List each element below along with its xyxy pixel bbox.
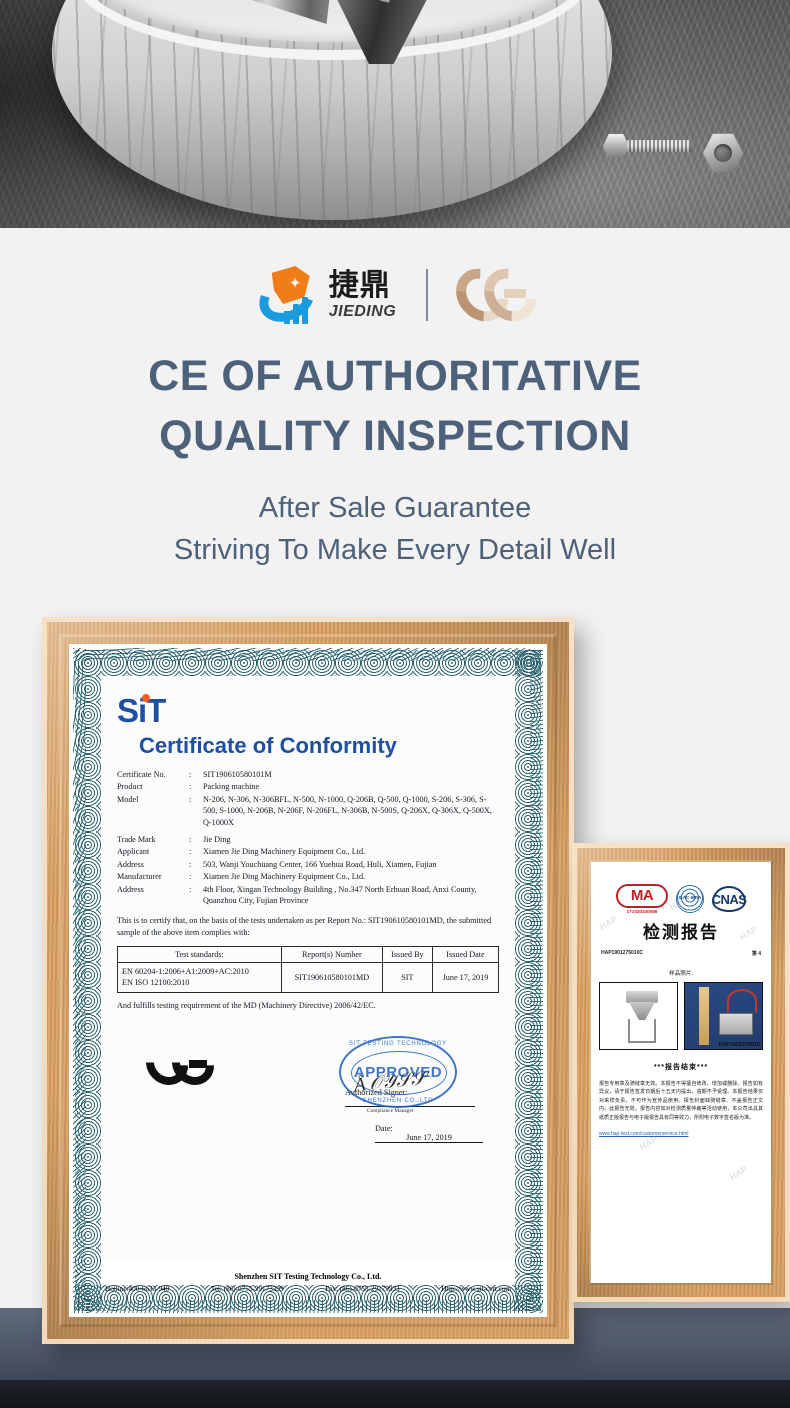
hex-nut-hole (714, 144, 732, 162)
report-meta-row: HAP1901275010C 第 4 (599, 950, 763, 957)
field-label: Certificate No. (117, 769, 189, 781)
report-disclaimer: 报告专用章及骑缝章无效。本报告不得擅自修改、增加或删除。报告如有异议，请于报告签… (599, 1080, 763, 1122)
field-colon: : (189, 859, 203, 871)
field-label: Address (117, 884, 189, 908)
guilloche-top (75, 650, 541, 676)
certificate-title: Certificate of Conformity (139, 733, 499, 759)
field-value: 4th Floor, Xingan Technology Building , … (203, 884, 499, 908)
report-end-marker: ***报告结束*** (599, 1062, 763, 1072)
page-subtitle-line2: Striving To Make Every Detail Well (0, 529, 790, 571)
watermark: HAP (728, 1164, 749, 1183)
cell-issued-date: June 17, 2019 (432, 962, 498, 992)
field-label: Manufacturer (117, 871, 189, 883)
certificate-footer: Shenzhen SIT Testing Technology Co., Ltd… (103, 1272, 513, 1293)
table-header-row: Test standards: Report(s) Number Issued … (118, 946, 499, 962)
footer-url[interactable]: Http://www.sit-cert.com (441, 1285, 511, 1293)
logo-bars-icon (284, 297, 308, 324)
cell-report-number: SIT190610580101MD (281, 962, 382, 992)
machine-hopper (626, 991, 658, 1003)
sample-photo-machine (599, 982, 678, 1050)
cma-logo-block: MA 171020340088 (616, 884, 668, 914)
field-label: Address (117, 859, 189, 871)
machinery-directive-statement: And fulfills testing requirement of the … (117, 1001, 499, 1010)
signature-subtitle: Compliance Manager (367, 1108, 414, 1114)
field-colon: : (189, 884, 203, 908)
report-title: 检测报告 (599, 918, 763, 943)
cell-issued-by: SIT (382, 962, 432, 992)
test-report-paper: HAP HAP HAP HAP HAP HAP HAP MA 171020340… (591, 862, 771, 1283)
field-value: Xiamen Jie Ding Machinery Equipment Co.,… (203, 846, 499, 858)
bolt-thread (627, 140, 691, 152)
column-header-standards: Test standards: (118, 946, 282, 962)
report-service-link[interactable]: www.hap-test.com/customerservice.html (599, 1131, 688, 1137)
cma-logo-number: 171020340088 (616, 909, 668, 914)
field-colon: : (189, 834, 203, 846)
table-row: Manufacturer : Xiamen Jie Ding Machinery… (117, 871, 499, 883)
sit-logo-dot-icon (142, 694, 150, 702)
field-value: N-206, N-306, N-306BFL, N-500, N-1000, Q… (203, 794, 499, 829)
seal-arc-top-text: SIT TESTING TECHNOLOGY (341, 1041, 455, 1047)
table-row: Model : N-206, N-306, N-306BFL, N-500, N… (117, 794, 499, 829)
cma-logo: MA (616, 884, 668, 908)
sit-logo: SiT (117, 694, 165, 728)
certificate-fields-table: Certificate No. : SIT190610580101M Produ… (117, 769, 499, 907)
signature-area: Authorized Signer: SIT TESTING TECHNOLOG… (117, 1016, 499, 1156)
standards-table: Test standards: Report(s) Number Issued … (117, 946, 499, 993)
wood-frame-border: HAP HAP HAP HAP HAP HAP HAP MA 171020340… (577, 848, 785, 1297)
framed-certificate-test-report[interactable]: HAP HAP HAP HAP HAP HAP HAP MA 171020340… (572, 843, 790, 1302)
brand-header-row: ✦ 捷鼎 JIEDING (0, 252, 790, 338)
table-row: Trade Mark : Jie Ding (117, 834, 499, 846)
field-label: Applicant (117, 846, 189, 858)
field-colon: : (189, 769, 203, 781)
field-colon: : (189, 846, 203, 858)
field-value: SIT190610580101M (203, 769, 499, 781)
packing-machine-icon (622, 991, 662, 1045)
field-label: Trade Mark (117, 834, 189, 846)
table-row: Address : 4th Floor, Xingan Technology B… (117, 884, 499, 908)
sample-photo-test-bench: HAP1901275010 (684, 982, 763, 1050)
vertical-divider-icon (426, 269, 428, 321)
floor-shadow-band (0, 1380, 790, 1408)
footer-contact-row: Hotline:400-6633-940 Tel: (86)-0755-2917… (103, 1285, 513, 1293)
ce-symbol-icon (147, 1042, 223, 1086)
guilloche-right (515, 650, 541, 1311)
column-header-report-number: Report(s) Number (281, 946, 382, 962)
table-row: Product : Packing machine (117, 781, 499, 793)
brand-name-en: JIEDING (329, 304, 397, 320)
jieding-logo-icon: ✦ (258, 264, 320, 326)
ruler-icon (699, 987, 709, 1045)
field-label: Model (117, 794, 189, 829)
ce-mark-icon (458, 267, 532, 323)
ilac-mra-logo-text: ILAC-MRA (677, 895, 703, 900)
field-colon: : (189, 794, 203, 829)
page-root: ✦ 捷鼎 JIEDING CE OF AUTHORITATIVE QUALITY… (0, 0, 790, 1408)
date-value: June 17, 2019 (375, 1133, 483, 1143)
column-header-issued-by: Issued By (382, 946, 432, 962)
footer-hotline: Hotline:400-6633-940 (105, 1285, 169, 1293)
table-row: Address : 503, Wanji Youchuang Center, 1… (117, 859, 499, 871)
field-colon: : (189, 871, 203, 883)
framed-certificate-ce[interactable]: SiT Certificate of Conformity Certificat… (42, 617, 574, 1344)
page-subtitle: After Sale Guarantee Striving To Make Ev… (0, 487, 790, 571)
sample-photo-label: 样品照片: (599, 969, 763, 977)
sample-photo-grid: HAP1901275010 (599, 982, 763, 1050)
field-colon: : (189, 781, 203, 793)
table-row: EN 60204-1:2006+A1:2009+AC:2010 EN ISO 1… (118, 962, 499, 992)
footer-company-name: Shenzhen SIT Testing Technology Co., Ltd… (103, 1272, 513, 1281)
accreditation-logos-row: MA 171020340088 ILAC-MRA CNAS (599, 884, 763, 914)
field-value: Jie Ding (203, 834, 499, 846)
certificate-content: SiT Certificate of Conformity Certificat… (103, 678, 513, 1261)
field-value: Xiamen Jie Ding Machinery Equipment Co.,… (203, 871, 499, 883)
hero-banner-image (0, 0, 790, 228)
cell-standards: EN 60204-1:2006+A1:2009+AC:2010 EN ISO 1… (118, 962, 282, 992)
machine-cone (629, 1002, 655, 1020)
test-wire-icon (727, 989, 757, 1013)
column-header-issued-date: Issued Date (432, 946, 498, 962)
report-page-label: 第 4 (752, 950, 761, 957)
ilac-mra-logo: ILAC-MRA (676, 885, 704, 913)
certify-statement: This is to certify that, on the basis of… (117, 915, 499, 938)
bolt-head (603, 134, 629, 158)
brand-lockup: ✦ 捷鼎 JIEDING (258, 264, 397, 326)
bolt-icon (603, 134, 691, 158)
wood-frame-border: SiT Certificate of Conformity Certificat… (47, 622, 569, 1339)
field-value: 503, Wanji Youchuang Center, 166 Yuehua … (203, 859, 499, 871)
page-subtitle-line1: After Sale Guarantee (0, 487, 790, 529)
marble-bowl-icon (52, 0, 612, 220)
page-title-line1: CE OF AUTHORITATIVE (0, 346, 790, 406)
field-value: Packing machine (203, 781, 499, 793)
machine-frame-legs (628, 1019, 656, 1043)
logo-star-icon: ✦ (289, 276, 302, 291)
table-row: Certificate No. : SIT190610580101M (117, 769, 499, 781)
page-title-line2: QUALITY INSPECTION (0, 406, 790, 466)
date-line: Date: June 17, 2019 (375, 1124, 499, 1143)
field-label: Product (117, 781, 189, 793)
date-label: Date: (375, 1124, 393, 1133)
sample-photo-code: HAP1901275010 (719, 1042, 760, 1048)
guilloche-left (75, 650, 101, 1311)
footer-fax: Fax: (86)-0755-29179933 (325, 1285, 399, 1293)
page-title: CE OF AUTHORITATIVE QUALITY INSPECTION (0, 346, 790, 466)
brand-name-cn: 捷鼎 (329, 271, 397, 301)
report-number: HAP1901275010C (601, 950, 643, 957)
ce-letter-e-bar (504, 289, 526, 298)
ce-big-e-bar (189, 1060, 207, 1068)
test-specimen-icon (719, 1013, 753, 1035)
footer-tel: Tel: (86)-0755-29173399 (211, 1285, 284, 1293)
brand-text-block: 捷鼎 JIEDING (329, 271, 397, 320)
certificate-paper: SiT Certificate of Conformity Certificat… (69, 644, 547, 1317)
table-row: Applicant : Xiamen Jie Ding Machinery Eq… (117, 846, 499, 858)
cnas-logo: CNAS (712, 886, 746, 912)
